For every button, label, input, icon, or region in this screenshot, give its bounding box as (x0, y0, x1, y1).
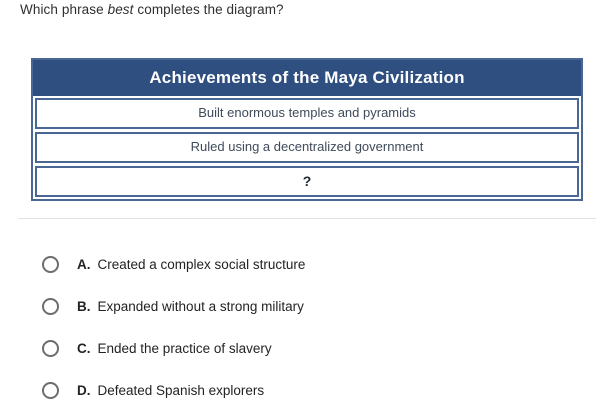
table-row: Built enormous temples and pyramids (35, 98, 579, 129)
radio-button-icon-c[interactable] (42, 340, 59, 357)
question-text-before: Which phrase (20, 2, 108, 17)
table-row-missing: ? (35, 166, 579, 197)
radio-button-icon-b[interactable] (42, 298, 59, 315)
question-emphasis-word: best (108, 2, 134, 17)
table-body: Built enormous temples and pyramids Rule… (33, 96, 581, 199)
choice-text-c: Ended the practice of slavery (98, 341, 272, 356)
choice-letter-c: C. (77, 341, 91, 356)
choice-letter-d: D. (77, 383, 91, 398)
question-text-after: completes the diagram? (134, 2, 284, 17)
table-row: Ruled using a decentralized government (35, 132, 579, 163)
choice-letter-a: A. (77, 257, 91, 272)
choice-option-d[interactable]: D. Defeated Spanish explorers (42, 369, 582, 411)
table-header-title: Achievements of the Maya Civilization (33, 60, 581, 96)
choice-option-c[interactable]: C. Ended the practice of slavery (42, 327, 582, 369)
section-divider (18, 218, 596, 219)
radio-button-icon-a[interactable] (42, 256, 59, 273)
diagram-container: Achievements of the Maya Civilization Bu… (31, 58, 583, 201)
choice-option-a[interactable]: A. Created a complex social structure (42, 243, 582, 285)
choice-option-b[interactable]: B. Expanded without a strong military (42, 285, 582, 327)
radio-button-icon-d[interactable] (42, 382, 59, 399)
choice-text-a: Created a complex social structure (98, 257, 306, 272)
choice-text-d: Defeated Spanish explorers (98, 383, 265, 398)
achievements-table: Achievements of the Maya Civilization Bu… (31, 58, 583, 201)
answer-choices-list: A. Created a complex social structure B.… (42, 243, 582, 411)
choice-letter-b: B. (77, 299, 91, 314)
page-title: Which phrase best completes the diagram? (20, 1, 284, 18)
choice-text-b: Expanded without a strong military (98, 299, 304, 314)
